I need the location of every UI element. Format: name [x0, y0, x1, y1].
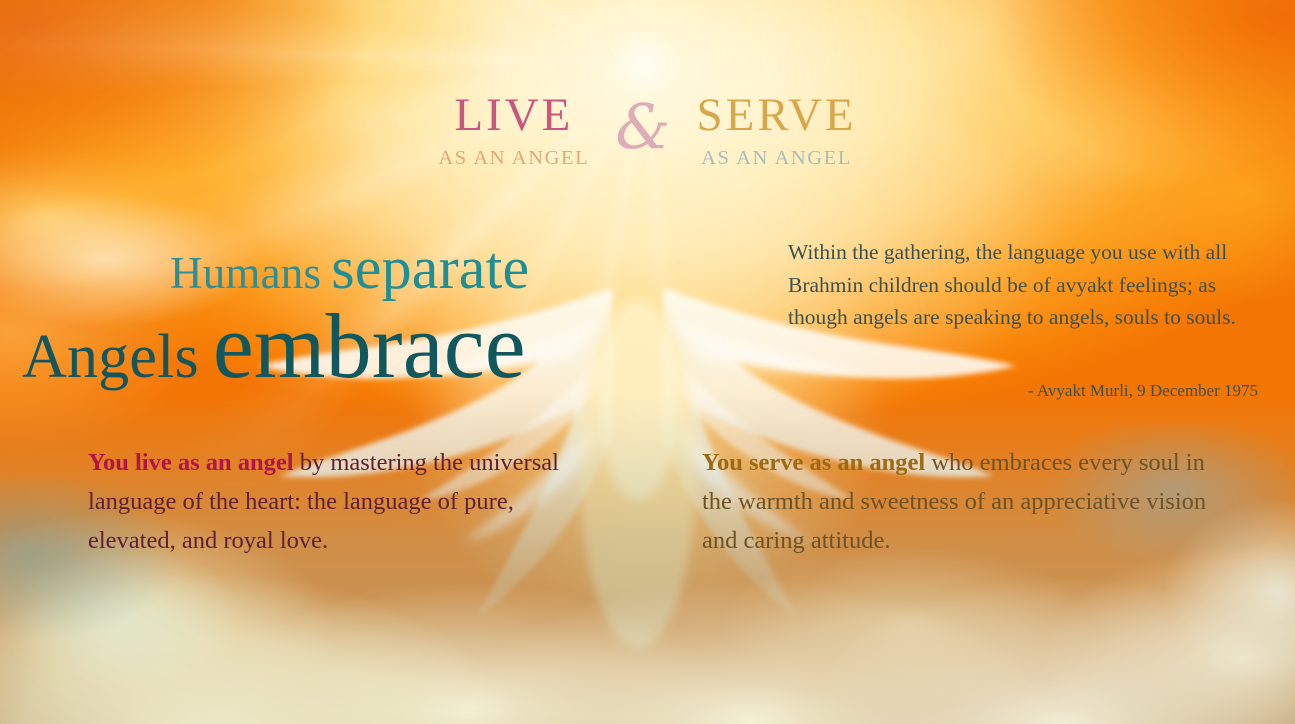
headline-line-2: Angelsembrace [22, 300, 742, 392]
poster-content: LIVE AS AN ANGEL & SERVE AS AN ANGEL Hum… [0, 0, 1295, 724]
headline-word-angels: Angels [22, 323, 199, 391]
serve-title-group: SERVE AS AN ANGEL [696, 92, 856, 169]
headline-line-1: Humansseparate [22, 238, 742, 298]
serve-subtitle: AS AN ANGEL [701, 148, 852, 169]
headline-word-embrace: embrace [213, 295, 526, 397]
title-lockup: LIVE AS AN ANGEL & SERVE AS AN ANGEL [0, 92, 1295, 169]
murli-quote-attribution: - Avyakt Murli, 9 December 1975 [788, 380, 1258, 402]
headline-block: Humansseparate Angelsembrace [22, 238, 742, 392]
headline-word-separate: separate [331, 235, 529, 301]
headline-word-humans: Humans [170, 248, 321, 298]
serve-paragraph: You serve as an angel who embraces every… [702, 443, 1212, 560]
serve-title: SERVE [696, 92, 856, 139]
live-paragraph: You live as an angel by mastering the un… [88, 443, 588, 560]
serve-paragraph-lead: You serve as an angel [702, 449, 925, 476]
live-paragraph-lead: You live as an angel [88, 449, 294, 476]
live-subtitle: AS AN ANGEL [438, 148, 589, 169]
murli-quote-text: Within the gathering, the language you u… [788, 236, 1258, 334]
live-title: LIVE [454, 92, 573, 139]
angel-poster: LIVE AS AN ANGEL & SERVE AS AN ANGEL Hum… [0, 0, 1295, 724]
ampersand-ornament: & [615, 96, 670, 158]
live-title-group: LIVE AS AN ANGEL [438, 92, 589, 169]
